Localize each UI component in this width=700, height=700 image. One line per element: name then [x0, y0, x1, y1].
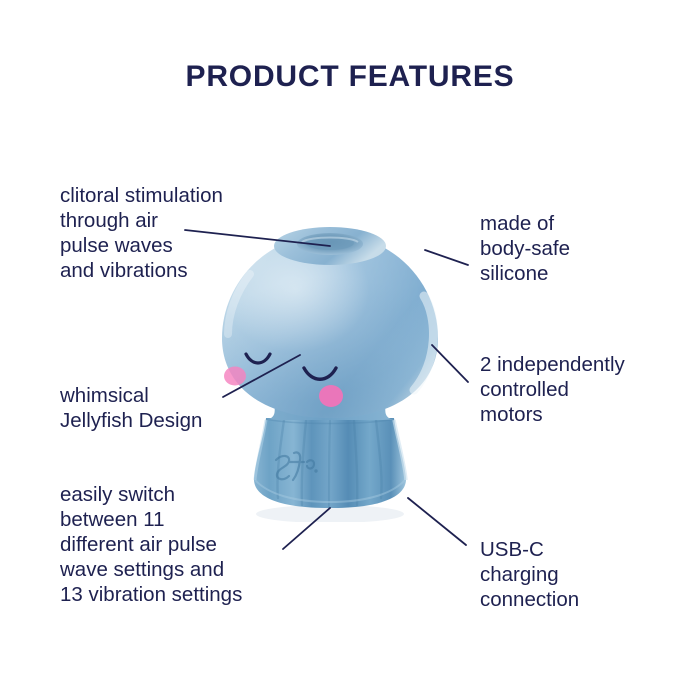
callout-usb-c-charging: USB-C charging connection: [480, 537, 680, 612]
callout-switch-settings: easily switch between 11 different air p…: [60, 482, 310, 607]
callout-independent-motors: 2 independently controlled motors: [480, 352, 690, 427]
callout-clitoral-stimulation: clitoral stimulation through air pulse w…: [60, 183, 295, 283]
callout-whimsical-jellyfish-design: whimsical Jellyfish Design: [60, 383, 295, 433]
right-cheek-blush: [319, 385, 343, 407]
callout-body-safe-silicone: made of body-safe silicone: [480, 211, 680, 286]
product-features-infographic: PRODUCT FEATURES: [0, 0, 700, 700]
page-title: PRODUCT FEATURES: [0, 60, 700, 94]
